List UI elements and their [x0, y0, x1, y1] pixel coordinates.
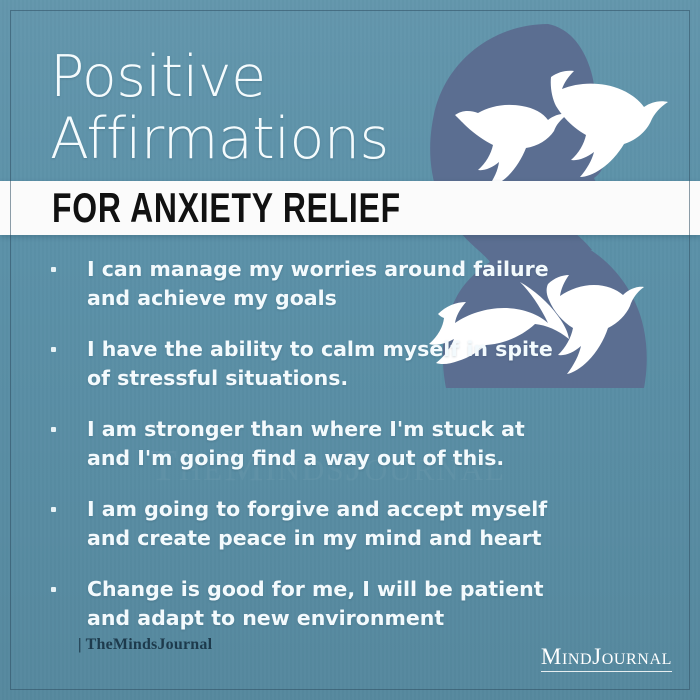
- bullet-icon: [51, 587, 56, 592]
- list-item: I have the ability to calm myself in spi…: [44, 335, 564, 393]
- bullet-icon: [51, 427, 56, 432]
- bullet-icon: [51, 347, 56, 352]
- subtitle-banner: FOR ANXIETY RELIEF: [0, 181, 700, 235]
- page-title: Positive Affirmations: [50, 46, 470, 170]
- subtitle-text: FOR ANXIETY RELIEF: [52, 187, 401, 229]
- brand-logo-text: MindJournal: [541, 644, 672, 670]
- list-item-text: I am stronger than where I'm stuck at an…: [87, 415, 564, 473]
- list-item: I am going to forgive and accept myself …: [44, 495, 564, 553]
- list-item-text: I can manage my worries around failure a…: [87, 255, 564, 313]
- bullet-icon: [51, 507, 56, 512]
- list-item-text: Change is good for me, I will be patient…: [87, 575, 564, 633]
- title-line-1: Positive: [50, 46, 470, 108]
- bullet-icon: [51, 267, 56, 272]
- list-item: Change is good for me, I will be patient…: [44, 575, 564, 633]
- brand-logo-underline: [541, 671, 672, 672]
- title-line-2: Affirmations: [50, 108, 470, 170]
- list-item: I am stronger than where I'm stuck at an…: [44, 415, 564, 473]
- attribution-text: | TheMindsJournal: [78, 636, 212, 654]
- list-item: I can manage my worries around failure a…: [44, 255, 564, 313]
- affirmation-list: I can manage my worries around failure a…: [44, 255, 564, 655]
- list-item-text: I am going to forgive and accept myself …: [87, 495, 564, 553]
- list-item-text: I have the ability to calm myself in spi…: [87, 335, 564, 393]
- brand-logo: MindJournal: [541, 644, 672, 672]
- affirmation-poster: TheMindsJournal Positive Affirmations FO…: [0, 0, 700, 700]
